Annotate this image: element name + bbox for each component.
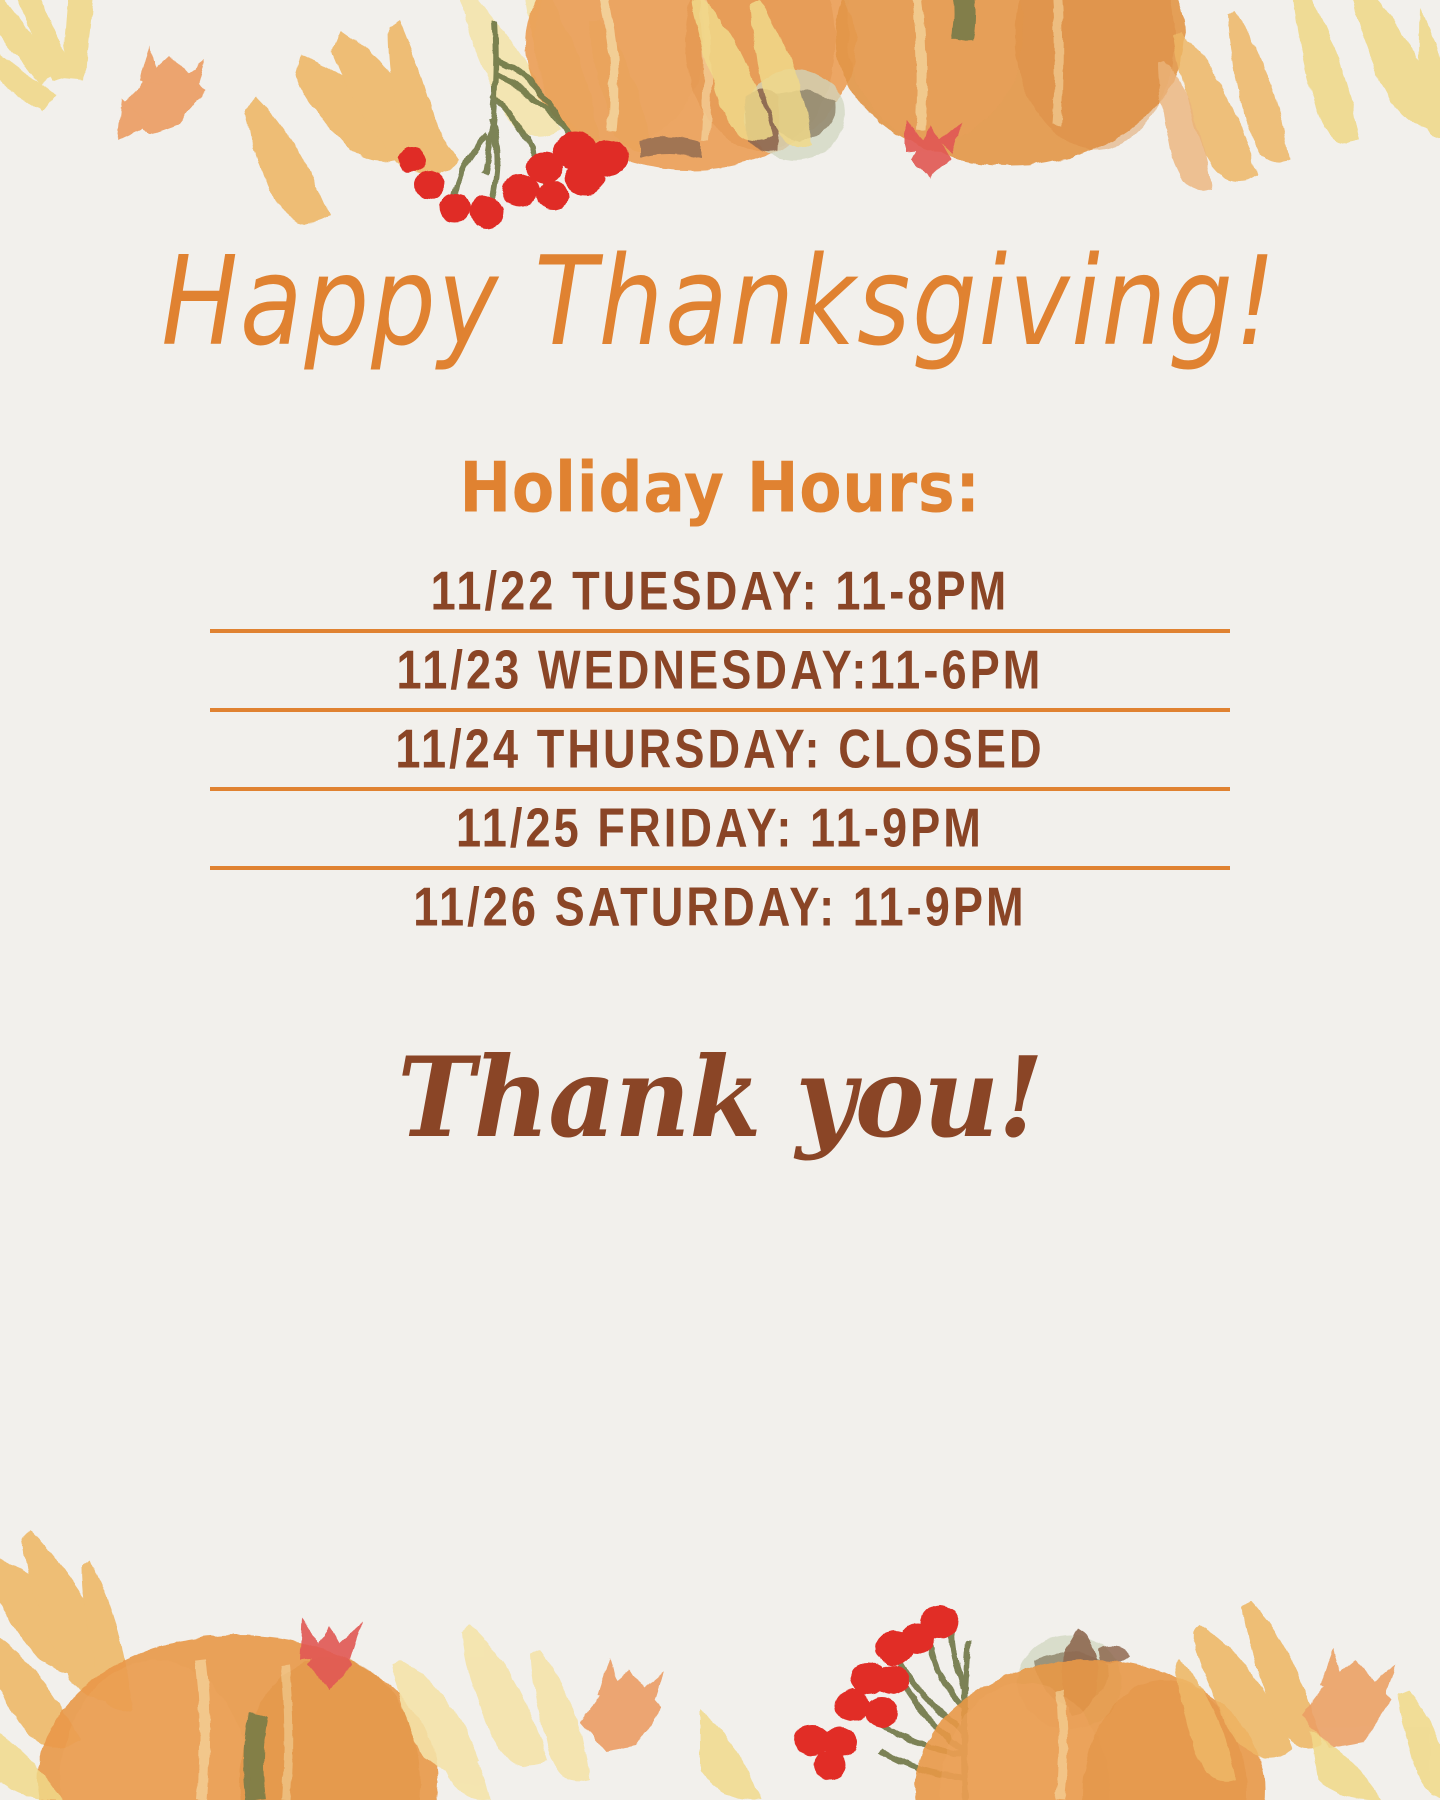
poster-content: Happy Thanksgiving! Holiday Hours: 11/22…	[0, 0, 1440, 1800]
holiday-hours-heading: Holiday Hours:	[459, 447, 980, 529]
row-divider	[210, 629, 1230, 633]
page-title: Happy Thanksgiving!	[162, 238, 1278, 367]
hours-row: 11/24 THURSDAY: CLOSED	[154, 713, 1287, 785]
hours-row: 11/25 FRIDAY: 11-9PM	[154, 792, 1287, 864]
thanksgiving-flyer: Happy Thanksgiving! Holiday Hours: 11/22…	[0, 0, 1440, 1800]
hours-row: 11/23 WEDNESDAY:11-6PM	[154, 634, 1287, 706]
row-divider	[210, 866, 1230, 870]
hours-row: 11/26 SATURDAY: 11-9PM	[154, 871, 1287, 943]
hours-row: 11/22 TUESDAY: 11-8PM	[154, 555, 1287, 627]
row-divider	[210, 787, 1230, 791]
holiday-hours-list: 11/22 TUESDAY: 11-8PM 11/23 WEDNESDAY:11…	[130, 560, 1310, 938]
row-divider	[210, 708, 1230, 712]
closing-message: Thank you!	[397, 1032, 1042, 1162]
